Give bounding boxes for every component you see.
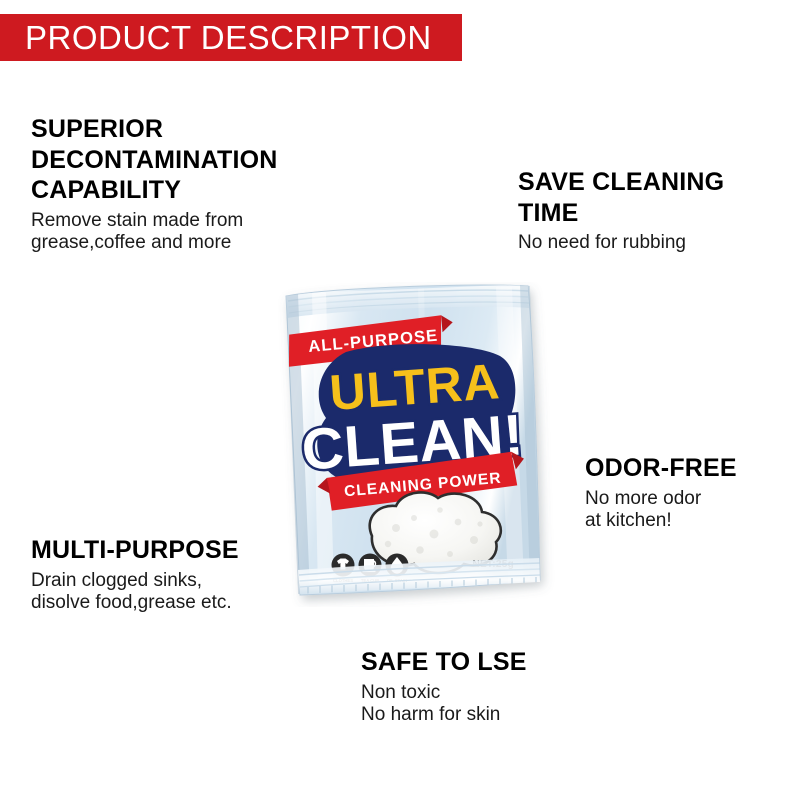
page-title: PRODUCT DESCRIPTION (0, 21, 432, 54)
feature-body-superior-decontamination: Remove stain made from grease,coffee and… (31, 210, 361, 255)
feature-title-superior-decontamination: SUPERIOR DECONTAMINATION CAPABILITY (31, 114, 361, 206)
feature-block-odor-free: ODOR-FREE No more odor at kitchen! (585, 453, 800, 532)
header-banner: PRODUCT DESCRIPTION (0, 14, 462, 61)
feature-body-safe-to-use: Non toxic No harm for skin (361, 682, 631, 727)
feature-body-save-cleaning-time: No need for rubbing (518, 232, 793, 254)
feature-title-save-cleaning-time: SAVE CLEANING TIME (518, 167, 793, 228)
feature-block-safe-to-use: SAFE TO LSE Non toxic No harm for skin (361, 647, 631, 726)
feature-block-save-cleaning-time: SAVE CLEANING TIME No need for rubbing (518, 167, 793, 254)
feature-title-safe-to-use: SAFE TO LSE (361, 647, 631, 678)
product-package-image: ALL-PURPOSE ULTRA CLEAN! CLEANING POWER (268, 282, 558, 607)
feature-block-superior-decontamination: SUPERIOR DECONTAMINATION CAPABILITY Remo… (31, 114, 361, 254)
feature-body-odor-free: No more odor at kitchen! (585, 488, 800, 533)
feature-title-odor-free: ODOR-FREE (585, 453, 800, 484)
